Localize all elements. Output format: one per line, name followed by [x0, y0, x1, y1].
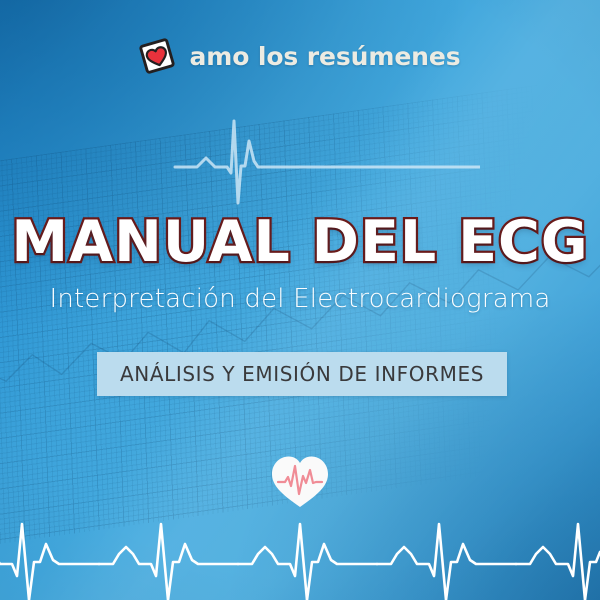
- brand-lockup: amo los resúmenes: [0, 38, 600, 74]
- heart-card-logo-icon: [139, 38, 175, 74]
- brand-name: amo los resúmenes: [189, 42, 460, 71]
- feature-banner: ANÁLISIS Y EMISIÓN DE INFORMES: [97, 352, 507, 396]
- page-subtitle: Interpretación del Electrocardiograma: [0, 285, 600, 314]
- poster-canvas: amo los resúmenes MANUAL DEL ECG Interpr…: [0, 0, 600, 600]
- feature-banner-label: ANÁLISIS Y EMISIÓN DE INFORMES: [120, 362, 484, 386]
- title-block: MANUAL DEL ECG Interpretación del Electr…: [0, 214, 600, 314]
- page-title: MANUAL DEL ECG: [0, 214, 600, 271]
- heart-with-ecg-icon: [269, 452, 331, 510]
